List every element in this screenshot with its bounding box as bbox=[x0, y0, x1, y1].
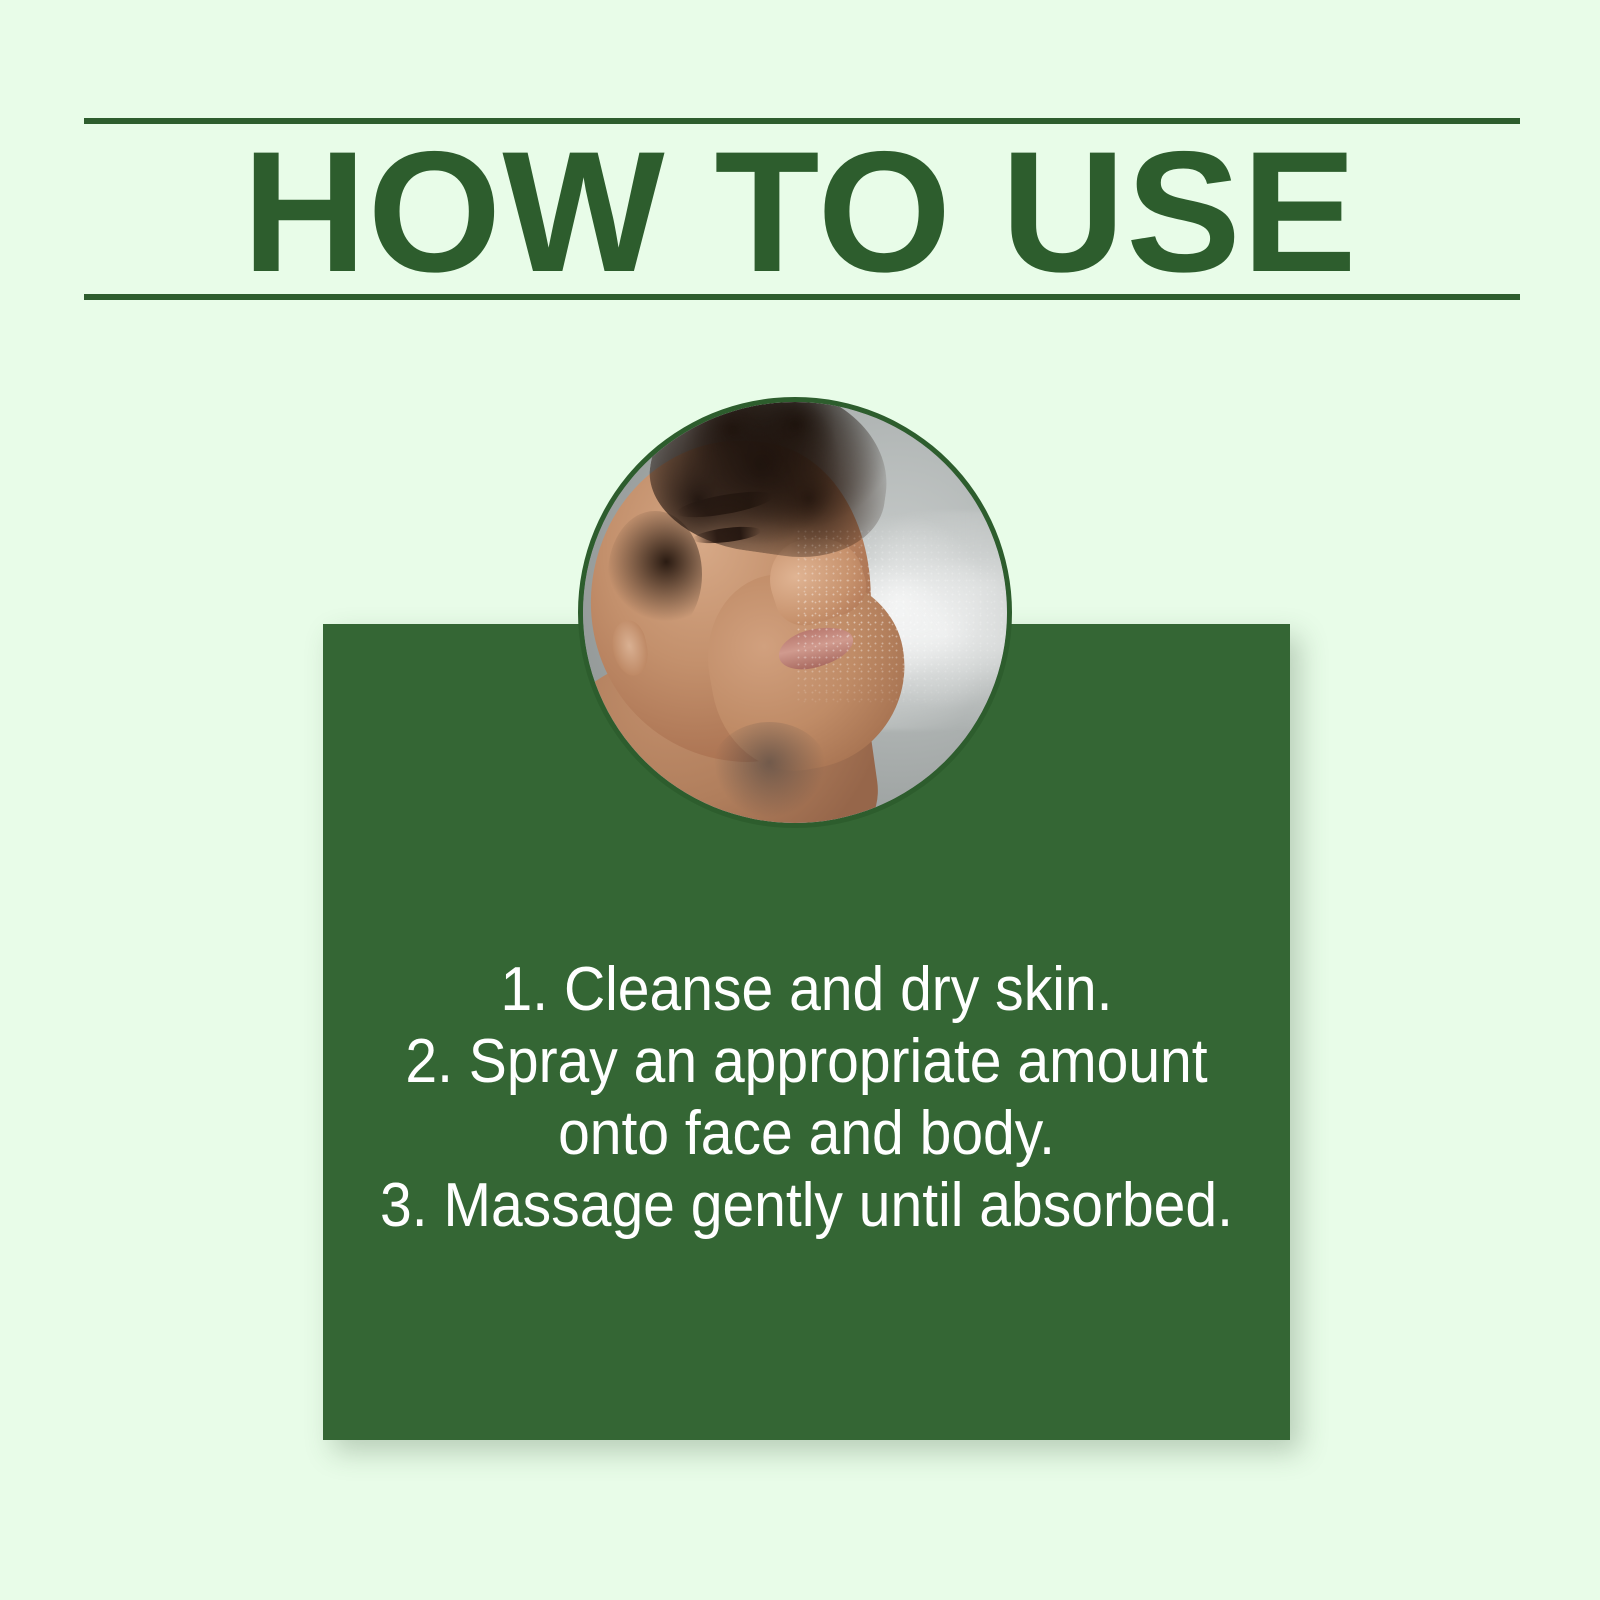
mist-droplets bbox=[795, 528, 1007, 705]
instruction-step-2-line-1: 2. Spray an appropriate amount bbox=[362, 1026, 1252, 1098]
instructions-list: 1. Cleanse and dry skin. 2. Spray an app… bbox=[323, 954, 1290, 1242]
how-to-use-infographic: HOW TO USE 1. Cleanse and dry skin. 2. S… bbox=[0, 0, 1600, 1600]
hair-nape-shape bbox=[710, 722, 829, 823]
instruction-step-2-line-2: onto face and body. bbox=[362, 1098, 1252, 1170]
instruction-step-1: 1. Cleanse and dry skin. bbox=[362, 954, 1252, 1026]
instruction-step-3: 3. Massage gently until absorbed. bbox=[362, 1170, 1252, 1242]
photo-inner bbox=[583, 402, 1007, 823]
woman-face-mist-spray-photo bbox=[578, 397, 1012, 828]
page-title: HOW TO USE bbox=[0, 126, 1600, 298]
hair-side-shape bbox=[608, 511, 701, 637]
